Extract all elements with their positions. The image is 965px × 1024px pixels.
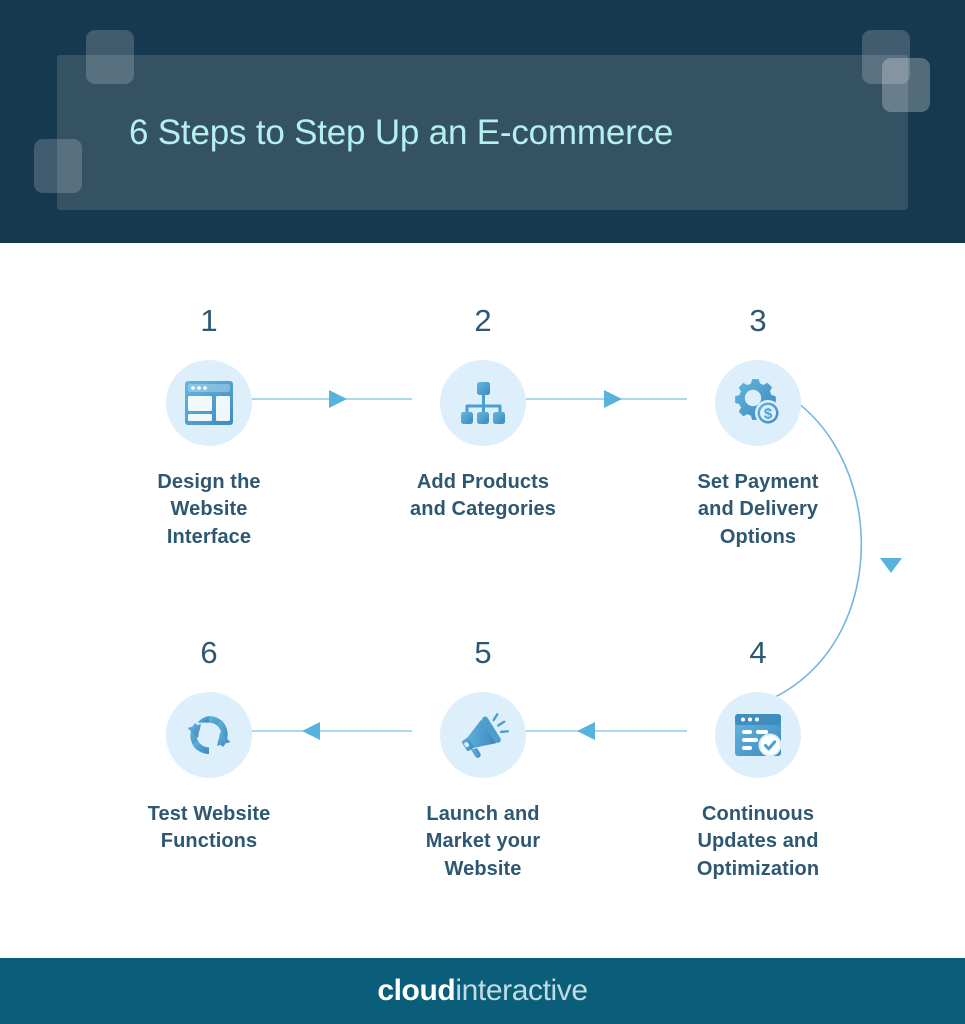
svg-text:$: $ <box>764 406 773 423</box>
step-label: ContinuousUpdates andOptimization <box>643 801 873 883</box>
step-item-2[interactable]: 2 Add Productsand Categories <box>368 305 598 524</box>
step-item-5[interactable]: 5 Launch andMarket yourWebsite <box>368 637 598 883</box>
decorative-square-top-right-2 <box>882 58 930 112</box>
page-title: 6 Steps to Step Up an E-commerce <box>57 55 908 210</box>
step-number: 4 <box>643 637 873 673</box>
megaphone-icon <box>456 708 510 762</box>
step-item-4[interactable]: 4 ContinuousUpdates andOptimization <box>643 637 873 883</box>
step-label: Add Productsand Categories <box>368 469 598 524</box>
step-number: 5 <box>368 637 598 673</box>
footer-bar: cloudinteractive <box>0 958 965 1024</box>
brand-logo-primary: cloud <box>377 974 455 1007</box>
step-item-1[interactable]: 1 Design theWebsiteInterface <box>94 305 324 551</box>
step-icon-circle <box>166 692 252 778</box>
step-icon-circle <box>440 360 526 446</box>
step-label: Launch andMarket yourWebsite <box>368 801 598 883</box>
brand-logo: cloudinteractive <box>377 974 587 1008</box>
step-label: Design theWebsiteInterface <box>94 469 324 551</box>
browser-layout-icon <box>181 375 237 431</box>
steps-diagram: 1 Design theWebsiteInterface 2 <box>0 243 965 958</box>
step-number: 3 <box>643 305 873 341</box>
step-icon-circle <box>715 692 801 778</box>
header-banner: 6 Steps to Step Up an E-commerce <box>0 0 965 243</box>
step-icon-circle <box>166 360 252 446</box>
browser-checkmark-icon <box>730 707 786 763</box>
step-number: 2 <box>368 305 598 341</box>
sitemap-hierarchy-icon <box>456 376 510 430</box>
brand-logo-secondary: interactive <box>455 974 587 1007</box>
step-item-3[interactable]: 3 $ Set Paymentand DeliveryOptions <box>643 305 873 551</box>
gear-dollar-icon: $ <box>730 375 786 431</box>
step-label: Set Paymentand DeliveryOptions <box>643 469 873 551</box>
step-label: Test WebsiteFunctions <box>94 801 324 856</box>
refresh-sync-icon <box>181 707 237 763</box>
step-icon-circle <box>440 692 526 778</box>
header-band: 6 Steps to Step Up an E-commerce <box>57 55 908 210</box>
step-item-6[interactable]: 6 Test WebsiteFunctions <box>94 637 324 856</box>
step-number: 1 <box>94 305 324 341</box>
step-icon-circle: $ <box>715 360 801 446</box>
step-number: 6 <box>94 637 324 673</box>
